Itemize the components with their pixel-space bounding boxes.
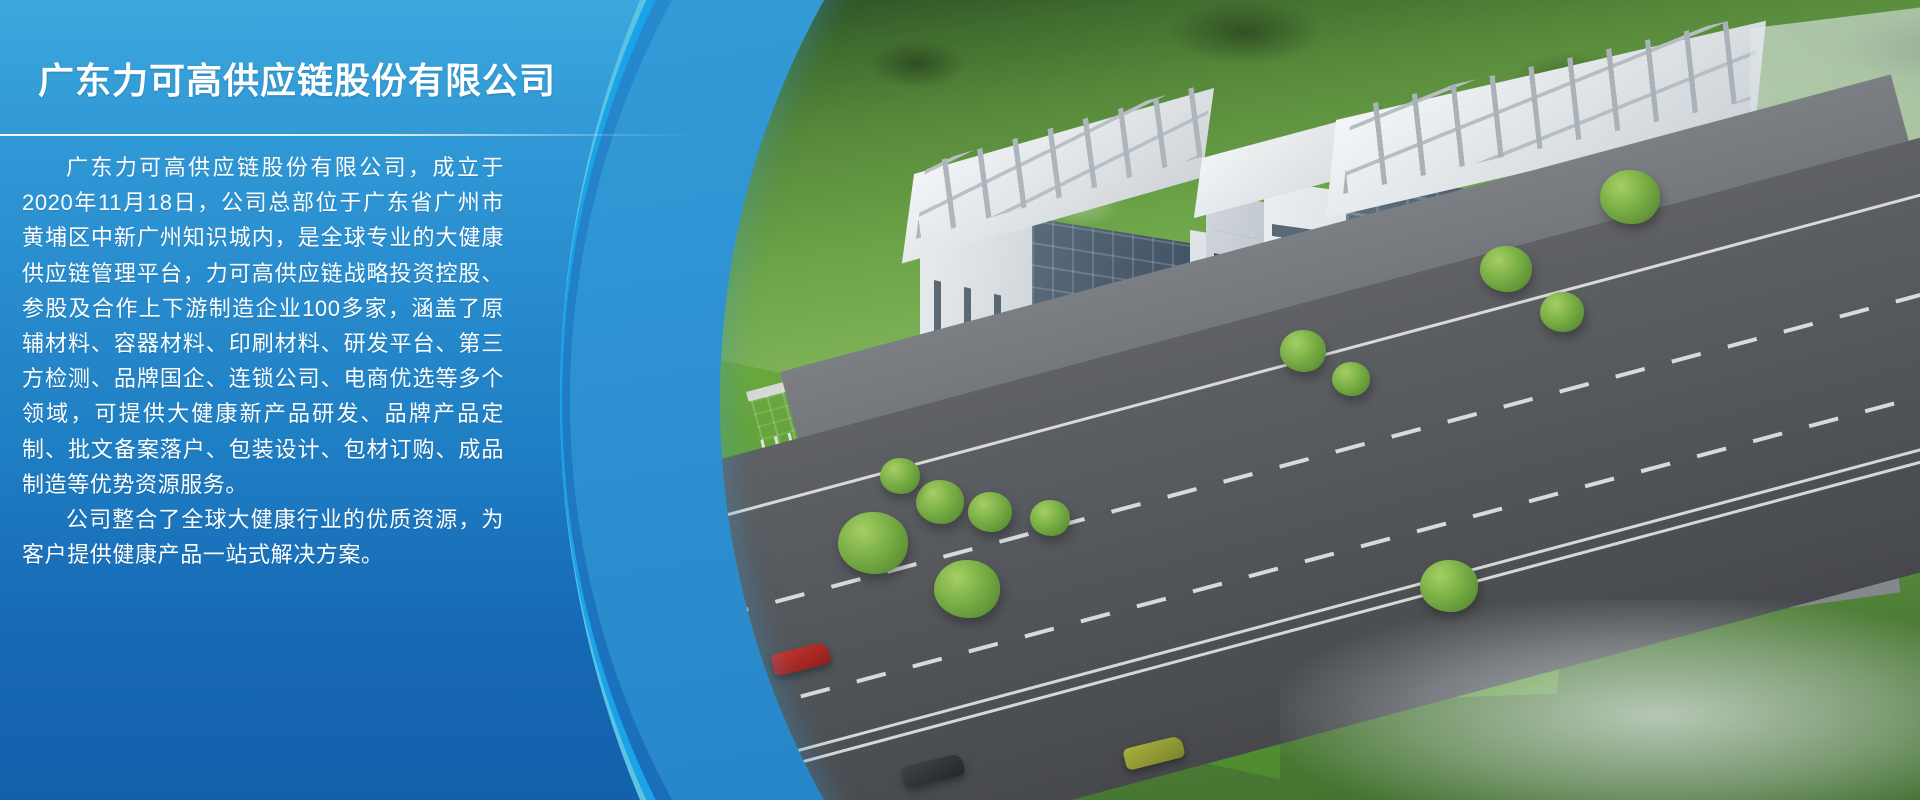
company-intro-banner: 广东力可高供应链股份有限公司 广东力可高供应链股份有限公司，成立于2020年11… — [0, 0, 1920, 800]
tree — [880, 458, 920, 494]
tree — [968, 492, 1012, 532]
page-title: 广东力可高供应链股份有限公司 — [38, 52, 556, 104]
intro-text-column: 广东力可高供应链股份有限公司 广东力可高供应链股份有限公司，成立于2020年11… — [0, 0, 700, 800]
intro-paragraph-1: 广东力可高供应链股份有限公司，成立于2020年11月18日，公司总部位于广东省广… — [22, 150, 504, 502]
tree — [1480, 246, 1532, 292]
tree — [934, 560, 1000, 618]
tree — [1540, 292, 1584, 332]
tree — [1280, 330, 1326, 372]
facility-photo — [720, 0, 1920, 800]
tree — [916, 480, 964, 524]
tree — [1600, 170, 1660, 224]
atmospheric-haze — [1280, 600, 1920, 800]
title-divider — [0, 134, 700, 136]
facility-photo-circle — [720, 0, 1920, 800]
tree — [1332, 362, 1370, 396]
intro-body: 广东力可高供应链股份有限公司，成立于2020年11月18日，公司总部位于广东省广… — [22, 150, 504, 572]
intro-paragraph-2: 公司整合了全球大健康行业的优质资源，为客户提供健康产品一站式解决方案。 — [22, 502, 504, 572]
tree — [838, 512, 908, 574]
tree — [1030, 500, 1070, 536]
